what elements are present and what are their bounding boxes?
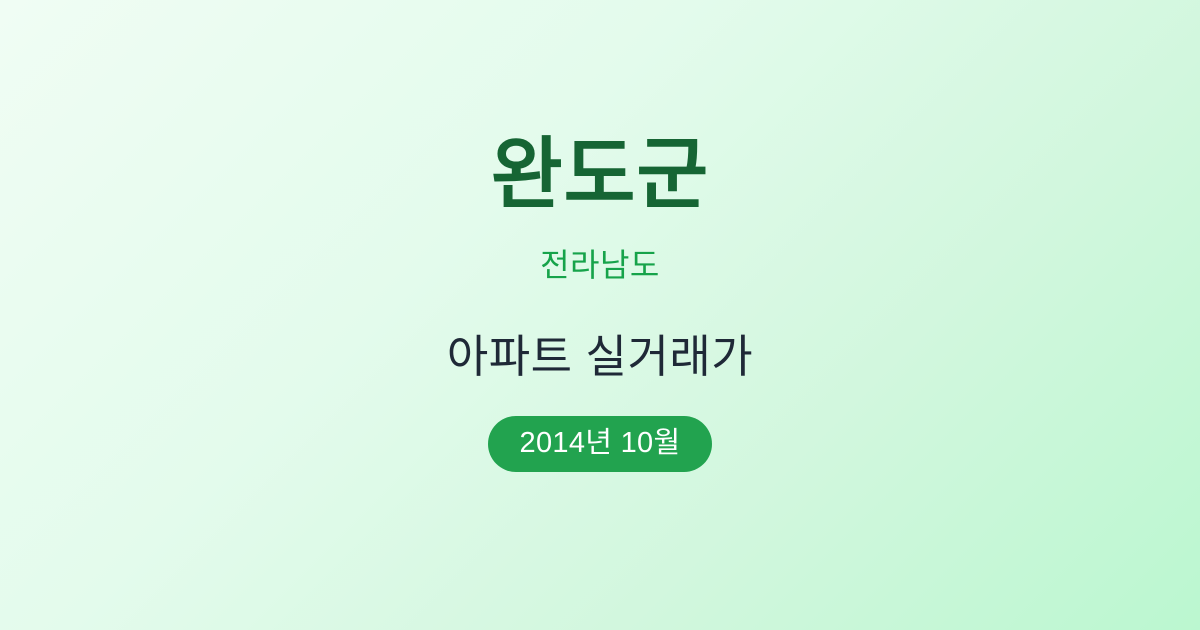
dataset-heading: 아파트 실거래가 bbox=[447, 334, 753, 379]
region-parent-label: 전라남도 bbox=[540, 249, 660, 281]
region-title: 완도군 bbox=[491, 135, 709, 213]
og-card: 완도군 전라남도 아파트 실거래가 2014년 10월 bbox=[0, 0, 1200, 630]
content-stack: 완도군 전라남도 아파트 실거래가 2014년 10월 bbox=[0, 135, 1200, 472]
period-badge: 2014년 10월 bbox=[488, 416, 713, 472]
